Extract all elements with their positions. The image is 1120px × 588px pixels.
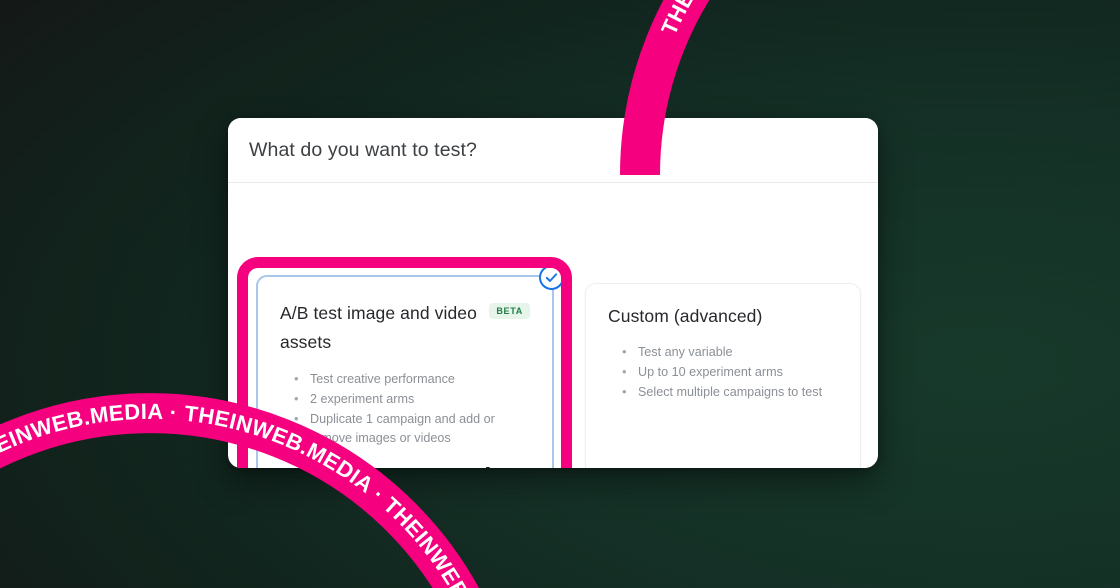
option-title-ab-test: A/B test image and video assets (280, 299, 479, 356)
list-item: Duplicate 1 campaign and add or remove i… (282, 410, 530, 448)
check-circle-icon (539, 265, 564, 290)
watermark-text-top: THEINWEB.MEDIA · THEINWEB.MEDIA · THEINW… (656, 0, 1120, 83)
card-header-custom: Custom (advanced) (608, 306, 838, 327)
feature-list-ab-test: Test creative performance 2 experiment a… (280, 370, 530, 449)
option-card-ab-test[interactable]: A/B test image and video assets BETA Tes… (256, 275, 554, 468)
option-card-custom[interactable]: Custom (advanced) Test any variable Up t… (585, 283, 861, 468)
page-title: What do you want to test? (249, 139, 477, 162)
list-item: 2 experiment arms (282, 390, 530, 409)
dialog-body: A/B test image and video assets BETA Tes… (228, 183, 878, 468)
screenshot-canvas: What do you want to test? A/B test image… (0, 0, 1120, 588)
list-item: Up to 10 experiment arms (610, 363, 838, 382)
test-type-dialog: What do you want to test? A/B test image… (228, 118, 878, 468)
author-name-overlay: Thomas Eccel (258, 462, 552, 468)
list-item: Select multiple campaigns to test (610, 383, 838, 402)
beta-badge: BETA (489, 303, 530, 319)
dialog-header: What do you want to test? (228, 118, 878, 183)
list-item: Test creative performance (282, 370, 530, 389)
list-item: Test any variable (610, 343, 838, 362)
feature-list-custom: Test any variable Up to 10 experiment ar… (608, 343, 838, 402)
option-title-custom: Custom (advanced) (608, 306, 762, 327)
card-header-ab-test: A/B test image and video assets BETA (280, 299, 530, 356)
